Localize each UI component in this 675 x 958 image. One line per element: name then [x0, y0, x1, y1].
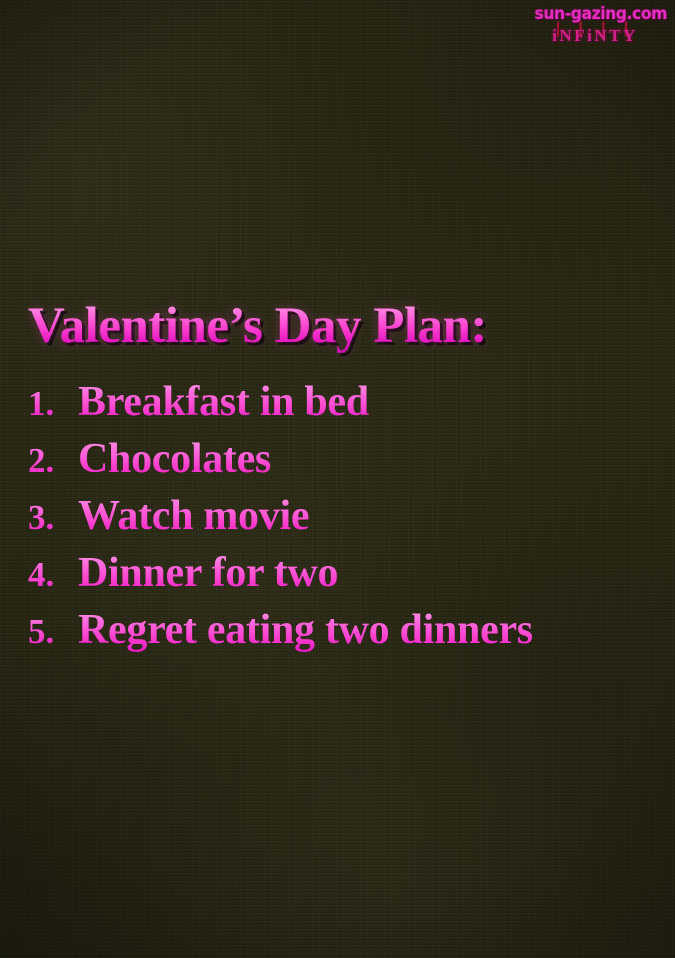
list-item-2-text: Chocolates — [78, 436, 271, 482]
list-item-5-number: 5. — [28, 603, 78, 660]
list-item-2: 2.Chocolates — [28, 431, 271, 496]
list-item-4-number: 4. — [28, 546, 78, 603]
page-title: Valentine’s Day Plan: Valentine’s Day Pl… — [28, 295, 487, 357]
list-item-3: 3.Watch movie — [28, 488, 309, 553]
list-item-1-number: 1. — [28, 375, 78, 432]
watermark-brand-wrap: | | | | iNFiNTY — [523, 24, 667, 46]
list-item-4: 4.Dinner for two — [28, 545, 338, 610]
list-item-3-number: 3. — [28, 489, 78, 546]
list-item: 2.Chocolates 2.Chocolates — [28, 431, 668, 488]
list-item-2-number: 2. — [28, 432, 78, 489]
list-item-5-text: Regret eating two dinners — [78, 607, 533, 653]
list-item-4-text: Dinner for two — [78, 550, 338, 596]
plan-list: 1.Breakfast in bed 1.Breakfast in bed 2.… — [28, 374, 668, 659]
list-item-5: 5.Regret eating two dinners — [28, 602, 533, 667]
valentines-day-plan-poster: sun-gazing.com | | | | iNFiNTY Valentine… — [0, 0, 675, 958]
list-item-3-text: Watch movie — [78, 493, 309, 539]
list-item: 5.Regret eating two dinners 5.Regret eat… — [28, 602, 668, 659]
watermark: sun-gazing.com | | | | iNFiNTY — [523, 6, 667, 46]
list-item: 1.Breakfast in bed 1.Breakfast in bed — [28, 374, 668, 431]
page-title-text: Valentine’s Day Plan: — [28, 298, 487, 354]
list-item: 3.Watch movie 3.Watch movie — [28, 488, 668, 545]
list-item: 4.Dinner for two 4.Dinner for two — [28, 545, 668, 602]
list-item-1: 1.Breakfast in bed — [28, 374, 369, 439]
list-item-1-text: Breakfast in bed — [78, 379, 369, 425]
watermark-brand-text: iNFiNTY — [523, 27, 667, 44]
